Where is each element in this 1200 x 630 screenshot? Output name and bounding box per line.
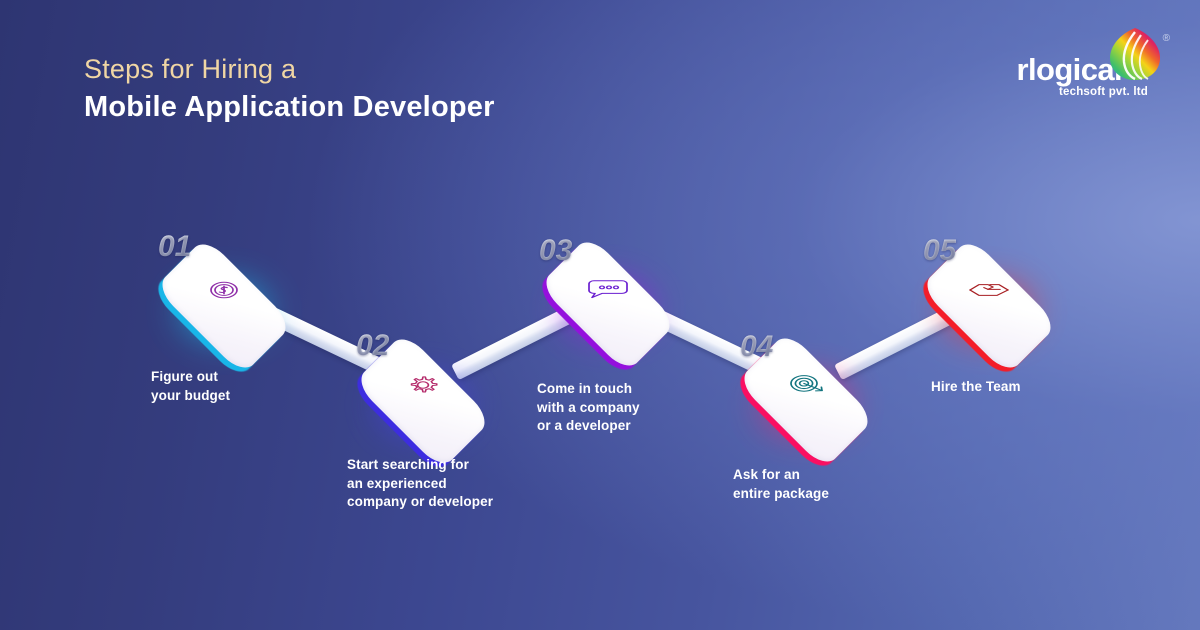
target-arrow-icon (780, 365, 832, 403)
step-number-05: 05 (923, 236, 956, 266)
step-caption-02: Start searching for an experienced compa… (347, 456, 493, 512)
step-caption-05: Hire the Team (931, 378, 1021, 397)
steps-flow: 01Figure out your budget02Start searchin… (0, 0, 1200, 630)
step-caption-01: Figure out your budget (151, 368, 230, 405)
dollar-coin-icon (198, 271, 250, 309)
step-number-01: 01 (158, 232, 191, 262)
handshake-icon (963, 271, 1015, 309)
chat-bubble-icon (582, 269, 634, 307)
infographic-canvas: Steps for Hiring a Mobile Application De… (0, 0, 1200, 630)
step-number-02: 02 (356, 331, 389, 361)
gear-icon (397, 366, 449, 404)
step-caption-03: Come in touch with a company or a develo… (537, 380, 640, 436)
step-caption-04: Ask for an entire package (733, 466, 829, 503)
step-number-04: 04 (740, 332, 773, 362)
step-number-03: 03 (539, 236, 572, 266)
